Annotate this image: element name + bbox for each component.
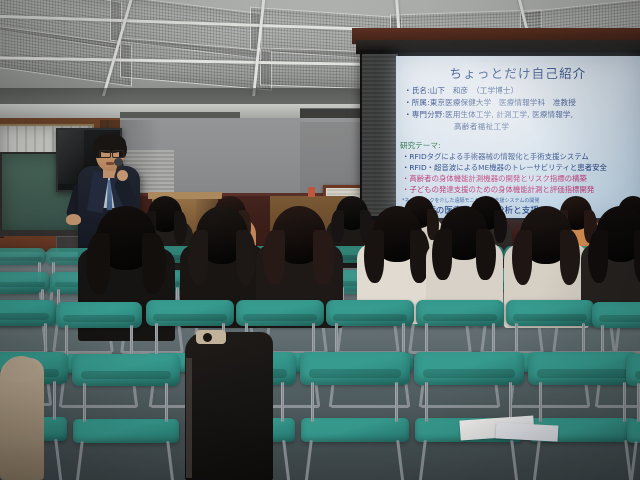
chair-leg (130, 325, 133, 356)
chair-leg (418, 440, 427, 480)
chair-backrest (326, 300, 414, 326)
chair-leg (83, 383, 86, 422)
chair (300, 352, 410, 451)
chair-leg (155, 323, 158, 355)
chair-leg (281, 382, 284, 422)
chair-leg (44, 323, 47, 354)
draped-black-coat (185, 332, 273, 480)
chair-leg (165, 383, 168, 422)
chair-backrest (416, 300, 504, 326)
chair-backrest (528, 352, 638, 385)
chair-backrest (236, 300, 324, 326)
chair-backrest (56, 302, 142, 328)
chair-leg (282, 440, 291, 480)
chair-seat (627, 419, 640, 443)
foreground-chairs (0, 0, 640, 480)
handout-paper (496, 422, 559, 441)
chair-leg (311, 382, 314, 422)
chair-backrest (0, 300, 56, 326)
chair-leg (312, 323, 315, 355)
chair-leg (582, 323, 585, 355)
chair-leg (396, 440, 405, 480)
chair-leg (510, 440, 519, 480)
chair-leg (539, 382, 542, 422)
umbrella-handle (186, 358, 192, 478)
chair-leg (637, 383, 640, 422)
chair-leg (76, 441, 85, 480)
chair-leg (515, 323, 518, 355)
chair-leg (425, 323, 428, 355)
chair-leg (304, 440, 313, 480)
chair-seat (73, 419, 179, 443)
coat-hood (4, 356, 38, 382)
chair-backrest (626, 354, 640, 386)
chair-leg (54, 439, 63, 480)
chair-leg (509, 382, 512, 422)
chair-leg (166, 441, 175, 480)
chair-backrest (146, 300, 234, 326)
chair-seat (301, 418, 409, 442)
chair (626, 354, 640, 451)
chair-leg (402, 323, 405, 355)
chair-leg (395, 382, 398, 422)
chair-leg (335, 323, 338, 355)
chair-leg (425, 382, 428, 422)
chair-backrest (72, 354, 180, 386)
chair-backrest (414, 352, 524, 385)
chair-backrest (300, 352, 410, 385)
coat-button (203, 333, 212, 342)
chair-backrest (592, 302, 640, 328)
chair (72, 354, 180, 451)
chair-leg (532, 440, 541, 480)
chair-leg (53, 381, 56, 420)
chair-leg (630, 441, 639, 480)
lecture-room-photo: ちょっとだけ自己紹介 ・氏名:山下 和彦 （工学博士） ・所属:東京医療保健大学… (0, 0, 640, 480)
chair-backrest (506, 300, 594, 326)
chair-leg (492, 323, 495, 355)
